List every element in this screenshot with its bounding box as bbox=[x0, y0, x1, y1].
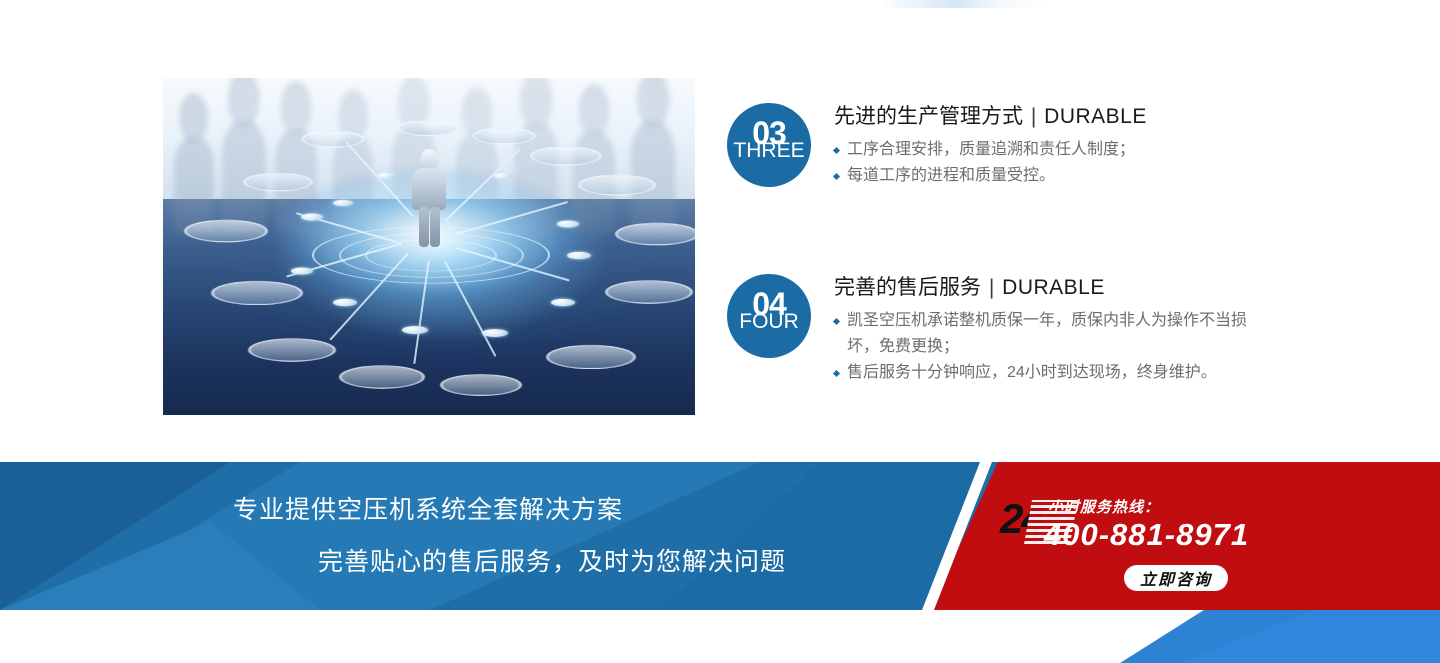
hero-disc bbox=[339, 365, 425, 389]
feature-block-04: 04 FOUR 完善的售后服务 | DURABLE 凯圣空压机承诺整机质保一年，… bbox=[727, 274, 1257, 386]
top-edge-remnant bbox=[880, 0, 1050, 8]
hero-disc bbox=[184, 219, 268, 242]
feature-title-04: 完善的售后服务 | DURABLE bbox=[834, 274, 1257, 302]
hero-node bbox=[482, 329, 508, 337]
bullet-item: 售后服务十分钟响应，24小时到达现场，终身维护。 bbox=[834, 360, 1257, 386]
hours-24-text: 24 bbox=[1000, 495, 1043, 542]
hero-person-figure bbox=[412, 149, 446, 245]
bullet-item: 凯圣空压机承诺整机质保一年，质保内非人为操作不当损坏，免费更换； bbox=[834, 308, 1257, 360]
feature-title-en: DURABLE bbox=[1002, 276, 1105, 299]
hero-node bbox=[493, 173, 513, 179]
banner-slogan-line-2: 完善贴心的售后服务，及时为您解决问题 bbox=[318, 546, 786, 578]
hero-network-illustration bbox=[163, 78, 695, 415]
feature-title-separator: | bbox=[987, 276, 996, 299]
feature-title-03: 先进的生产管理方式 | DURABLE bbox=[834, 103, 1147, 131]
hero-person-head bbox=[421, 149, 438, 169]
badge-number-03: 03 THREE bbox=[727, 103, 811, 187]
hero-node bbox=[376, 173, 396, 179]
feature-title-cn: 完善的售后服务 bbox=[834, 276, 981, 299]
hero-person-leg-left bbox=[419, 207, 429, 247]
banner-slogan-group: 专业提供空压机系统全套解决方案 完善贴心的售后服务，及时为您解决问题 bbox=[0, 462, 930, 610]
hero-node bbox=[551, 298, 575, 305]
hero-disc bbox=[440, 374, 522, 396]
hero-disc bbox=[578, 174, 656, 195]
badge-number-word: THREE bbox=[727, 139, 811, 163]
feature-title-separator: | bbox=[1029, 105, 1038, 128]
bullet-item: 工序合理安排，质量追溯和责任人制度； bbox=[834, 137, 1147, 163]
feature-title-cn: 先进的生产管理方式 bbox=[834, 105, 1023, 128]
hero-node bbox=[567, 251, 591, 258]
hotline-group: 24 小时服务热线： 400-881-8971 立即咨询 bbox=[1000, 462, 1360, 610]
bullet-item: 每道工序的进程和质量受控。 bbox=[834, 163, 1147, 189]
feature-text-03: 先进的生产管理方式 | DURABLE 工序合理安排，质量追溯和责任人制度； 每… bbox=[834, 103, 1147, 189]
consult-now-button[interactable]: 立即咨询 bbox=[1124, 565, 1228, 591]
badge-number-04: 04 FOUR bbox=[727, 274, 811, 358]
hero-node bbox=[402, 326, 428, 334]
hero-person-leg-right bbox=[430, 207, 440, 247]
hero-disc bbox=[243, 173, 313, 192]
hotline-label: 小时服务热线： bbox=[1048, 496, 1160, 517]
hero-disc bbox=[615, 223, 695, 246]
bottom-cta-banner: 专业提供空压机系统全套解决方案 完善贴心的售后服务，及时为您解决问题 24 小时… bbox=[0, 462, 1440, 663]
hero-disc bbox=[530, 146, 602, 166]
feature-bullets-04: 凯圣空压机承诺整机质保一年，质保内非人为操作不当损坏，免费更换； 售后服务十分钟… bbox=[834, 308, 1257, 386]
hotline-number: 400-881-8971 bbox=[1044, 518, 1249, 552]
feature-text-04: 完善的售后服务 | DURABLE 凯圣空压机承诺整机质保一年，质保内非人为操作… bbox=[834, 274, 1257, 386]
hero-person-torso bbox=[412, 168, 446, 210]
feature-block-03: 03 THREE 先进的生产管理方式 | DURABLE 工序合理安排，质量追溯… bbox=[727, 103, 1147, 189]
hero-node bbox=[557, 221, 579, 228]
badge-number-word: FOUR bbox=[727, 310, 811, 334]
hero-node bbox=[333, 298, 357, 305]
hero-node bbox=[333, 200, 353, 206]
hero-disc bbox=[472, 128, 536, 145]
feature-bullets-03: 工序合理安排，质量追溯和责任人制度； 每道工序的进程和质量受控。 bbox=[834, 137, 1147, 189]
hero-disc bbox=[248, 338, 336, 362]
banner-slogan-line-1: 专业提供空压机系统全套解决方案 bbox=[233, 494, 623, 526]
hours-24-badge: 24 bbox=[1000, 498, 1043, 540]
feature-title-en: DURABLE bbox=[1044, 105, 1147, 128]
